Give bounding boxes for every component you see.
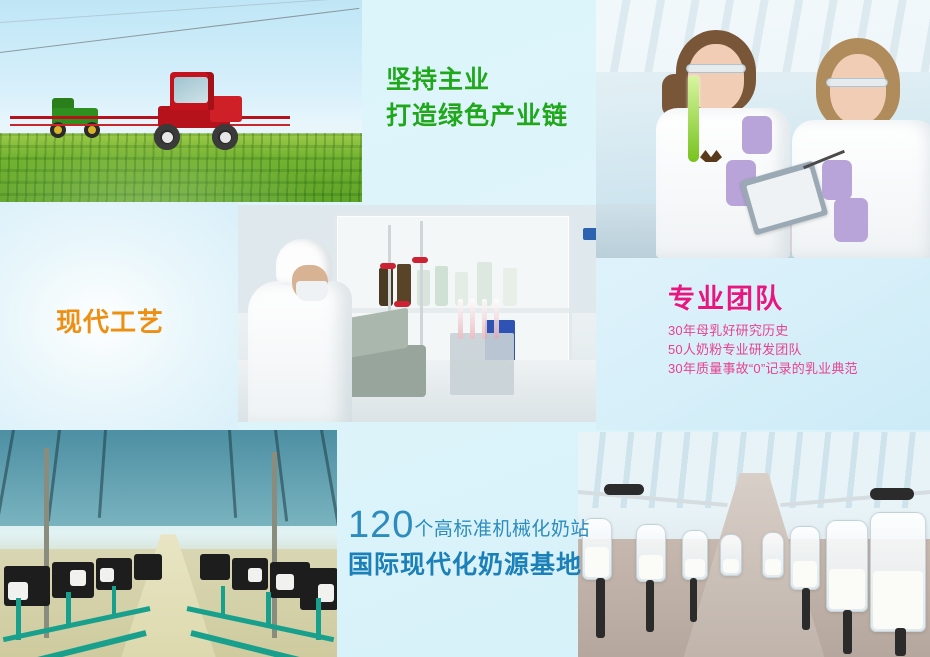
sprayer-boom — [10, 116, 290, 119]
reagent-bottle — [435, 266, 448, 306]
cow — [232, 558, 268, 590]
blue-label-sign — [583, 228, 596, 240]
red-clamp — [380, 263, 396, 269]
milk-jar — [720, 534, 742, 576]
sprayer-wheel-front — [154, 124, 180, 150]
slogan-green-line-1: 坚持主业 — [386, 62, 586, 98]
slogan-dairy-base: 120个高标准机械化奶站 国际现代化奶源基地 — [348, 504, 598, 582]
shelf-divider — [337, 308, 569, 313]
scientists-photo — [596, 0, 930, 258]
team-heading: 专业团队 — [668, 282, 918, 316]
farm-field-photo — [0, 0, 362, 202]
milk-level — [793, 561, 817, 587]
milking-hose — [596, 578, 605, 638]
dairy-base-line: 国际现代化奶源基地 — [348, 548, 598, 582]
milk-jar — [682, 530, 708, 580]
milking-cluster — [870, 488, 914, 500]
red-clamp — [394, 301, 410, 307]
purple-glove-right-upper — [822, 160, 852, 200]
wheel-hub — [162, 132, 173, 143]
slogan-green-line-2: 打造绿色产业链 — [386, 98, 586, 134]
dairy-station-count: 120 — [348, 504, 414, 546]
slogan-orange: 现代工艺 — [56, 302, 164, 339]
barn-post — [272, 452, 277, 638]
rail-upright — [221, 586, 225, 616]
team-bullet-2: 50人奶粉专业研发团队 — [668, 340, 918, 359]
cow-patch — [248, 568, 262, 582]
milk-level — [829, 569, 865, 609]
poster-canvas: 坚持主业 打造绿色产业链 现代工艺 专业团队 30年母乳好研究历史 50人奶粉专… — [0, 0, 930, 657]
cow-patch — [100, 568, 114, 582]
barn-post — [44, 448, 49, 638]
red-sprayer — [150, 72, 260, 150]
reagent-bottle — [417, 270, 430, 306]
cow — [4, 566, 50, 606]
milk-level — [873, 571, 923, 629]
milking-hose — [646, 580, 654, 632]
technician-labcoat — [248, 281, 352, 422]
dairy-station-line: 120个高标准机械化奶站 — [348, 504, 598, 546]
team-bullet-1: 30年母乳好研究历史 — [668, 321, 918, 340]
rail-upright — [316, 598, 321, 640]
milk-jar — [636, 524, 666, 582]
sprayer-boom-lower — [10, 124, 290, 126]
test-tube-rack — [450, 333, 514, 395]
cow — [200, 554, 230, 580]
sprayer-windshield — [174, 77, 208, 103]
lab-technician — [248, 239, 358, 419]
scientist-right-head — [830, 54, 886, 124]
lab-technician-photo — [238, 205, 596, 422]
rail-upright — [112, 586, 116, 616]
slogan-team: 专业团队 30年母乳好研究历史 50人奶粉专业研发团队 30年质量事故“0”记录… — [668, 282, 918, 378]
cow — [52, 562, 94, 598]
sprayer-wheel-rear — [212, 124, 238, 150]
milk-jar — [762, 532, 784, 578]
cow-patch — [276, 574, 294, 590]
reagent-bottle — [503, 268, 517, 306]
face-mask-icon — [296, 281, 328, 301]
rack-tube — [494, 299, 499, 339]
purple-glove-left-upper — [742, 116, 772, 154]
slogan-green: 坚持主业 打造绿色产业链 — [386, 62, 586, 134]
team-bullet-3: 30年质量事故“0”记录的乳业典范 — [668, 359, 918, 378]
rack-tube — [470, 299, 475, 339]
safety-goggles-icon — [826, 78, 888, 87]
milk-level — [685, 559, 705, 577]
wheel-hub — [220, 132, 231, 143]
cow — [134, 554, 162, 580]
purple-glove-right-lower — [834, 198, 868, 242]
rail-upright — [66, 592, 71, 628]
milking-hose — [843, 610, 852, 654]
cow-barn-photo — [0, 430, 337, 657]
milking-hose — [690, 578, 697, 622]
milk-level — [639, 555, 663, 579]
milk-level — [765, 559, 781, 575]
reagent-bottle — [397, 264, 411, 306]
milking-cluster — [604, 484, 644, 495]
milking-hose — [802, 588, 810, 630]
red-clamp — [412, 257, 428, 263]
milk-level — [723, 559, 739, 573]
sprayer-tank — [210, 96, 242, 122]
safety-goggles-icon — [686, 64, 746, 73]
rack-tube — [458, 299, 463, 339]
slogan-orange-line: 现代工艺 — [56, 302, 164, 339]
rail-upright — [266, 592, 271, 628]
milk-jar — [826, 520, 868, 612]
milking-hose — [895, 628, 906, 656]
cow-patch — [70, 570, 86, 586]
milk-jar — [870, 512, 926, 632]
green-test-tube — [688, 76, 699, 162]
milk-jar — [790, 526, 820, 590]
rail-upright — [16, 598, 21, 640]
rack-tube — [482, 299, 487, 339]
dairy-station-unit: 个高标准机械化奶站 — [414, 519, 590, 540]
milking-parlour-photo — [578, 432, 930, 657]
